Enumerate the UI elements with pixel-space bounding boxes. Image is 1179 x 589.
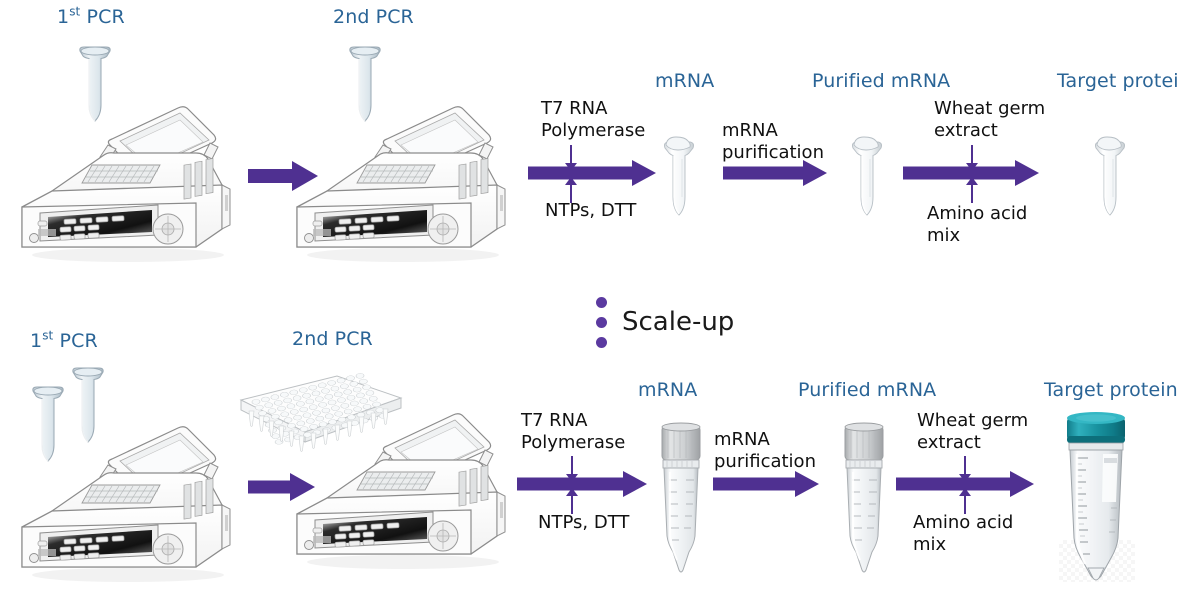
row2-label-pcr1: 1st PCR: [30, 330, 98, 352]
workflow-diagram: 1st PCR 2nd PCR: [0, 0, 1179, 589]
row1-annotation-t7-polymerase: T7 RNA Polymerase: [541, 98, 645, 142]
row2-vessel-purified-mrna: [833, 420, 895, 580]
row1-label-pcr2: 2nd PCR: [333, 6, 414, 28]
row2-arrow-purification: [713, 470, 823, 498]
row2-annotation-purification: mRNA purification: [714, 429, 816, 473]
row1-annotation-amino-acid: Amino acid mix: [927, 203, 1027, 247]
row1-vessel-mrna: [658, 135, 700, 217]
scale-up-group: Scale-up: [592, 297, 832, 353]
row2-label-mrna: mRNA: [638, 379, 697, 401]
row2-vessel-mrna: [650, 420, 712, 580]
row2-annotation-amino-acid: Amino acid mix: [913, 512, 1013, 556]
row2-annotation-wheat-germ: Wheat germ extract: [917, 410, 1028, 454]
row2-thermocycler-1: [8, 415, 240, 583]
row1-label-target-protein: Target protein: [1057, 70, 1179, 92]
row1-thermocycler-2: [283, 95, 515, 263]
row1-vessel-purified-mrna: [846, 135, 888, 217]
row2-feed-arrow-amino-up: [959, 488, 971, 514]
row1-thermocycler-1: [8, 95, 240, 263]
row1-arrow-purification: [723, 159, 831, 187]
row1-label-purified-mrna: Purified mRNA: [812, 70, 950, 92]
row1-annotation-purification: mRNA purification: [722, 120, 824, 164]
row2-feed-arrow-ntps-up: [566, 488, 578, 514]
row1-label-mrna: mRNA: [655, 70, 714, 92]
row2-label-pcr2: 2nd PCR: [292, 328, 373, 350]
row2-arrow-transcription: [517, 470, 652, 498]
row1-feed-arrow-amino-up: [966, 177, 978, 203]
row1-annotation-ntps: NTPs, DTT: [545, 200, 636, 222]
row2-vessel-target-protein: [1055, 412, 1141, 584]
row1-arrow-transcription: [528, 159, 658, 187]
row2-thermocycler-2: [283, 402, 515, 570]
row1-vessel-target-protein: [1089, 135, 1131, 217]
row2-label-target-protein: Target protein: [1044, 379, 1178, 401]
scale-up-label: Scale-up: [622, 308, 734, 336]
row2-label-purified-mrna: Purified mRNA: [798, 379, 936, 401]
scale-up-bullet-1: [596, 297, 607, 308]
row1-label-pcr1: 1st PCR: [57, 6, 125, 28]
scale-up-bullet-3: [596, 337, 607, 348]
scale-up-bullet-2: [596, 317, 607, 328]
row2-annotation-t7-polymerase: T7 RNA Polymerase: [521, 410, 625, 454]
row1-annotation-wheat-germ: Wheat germ extract: [934, 98, 1045, 142]
row2-annotation-ntps: NTPs, DTT: [538, 512, 629, 534]
